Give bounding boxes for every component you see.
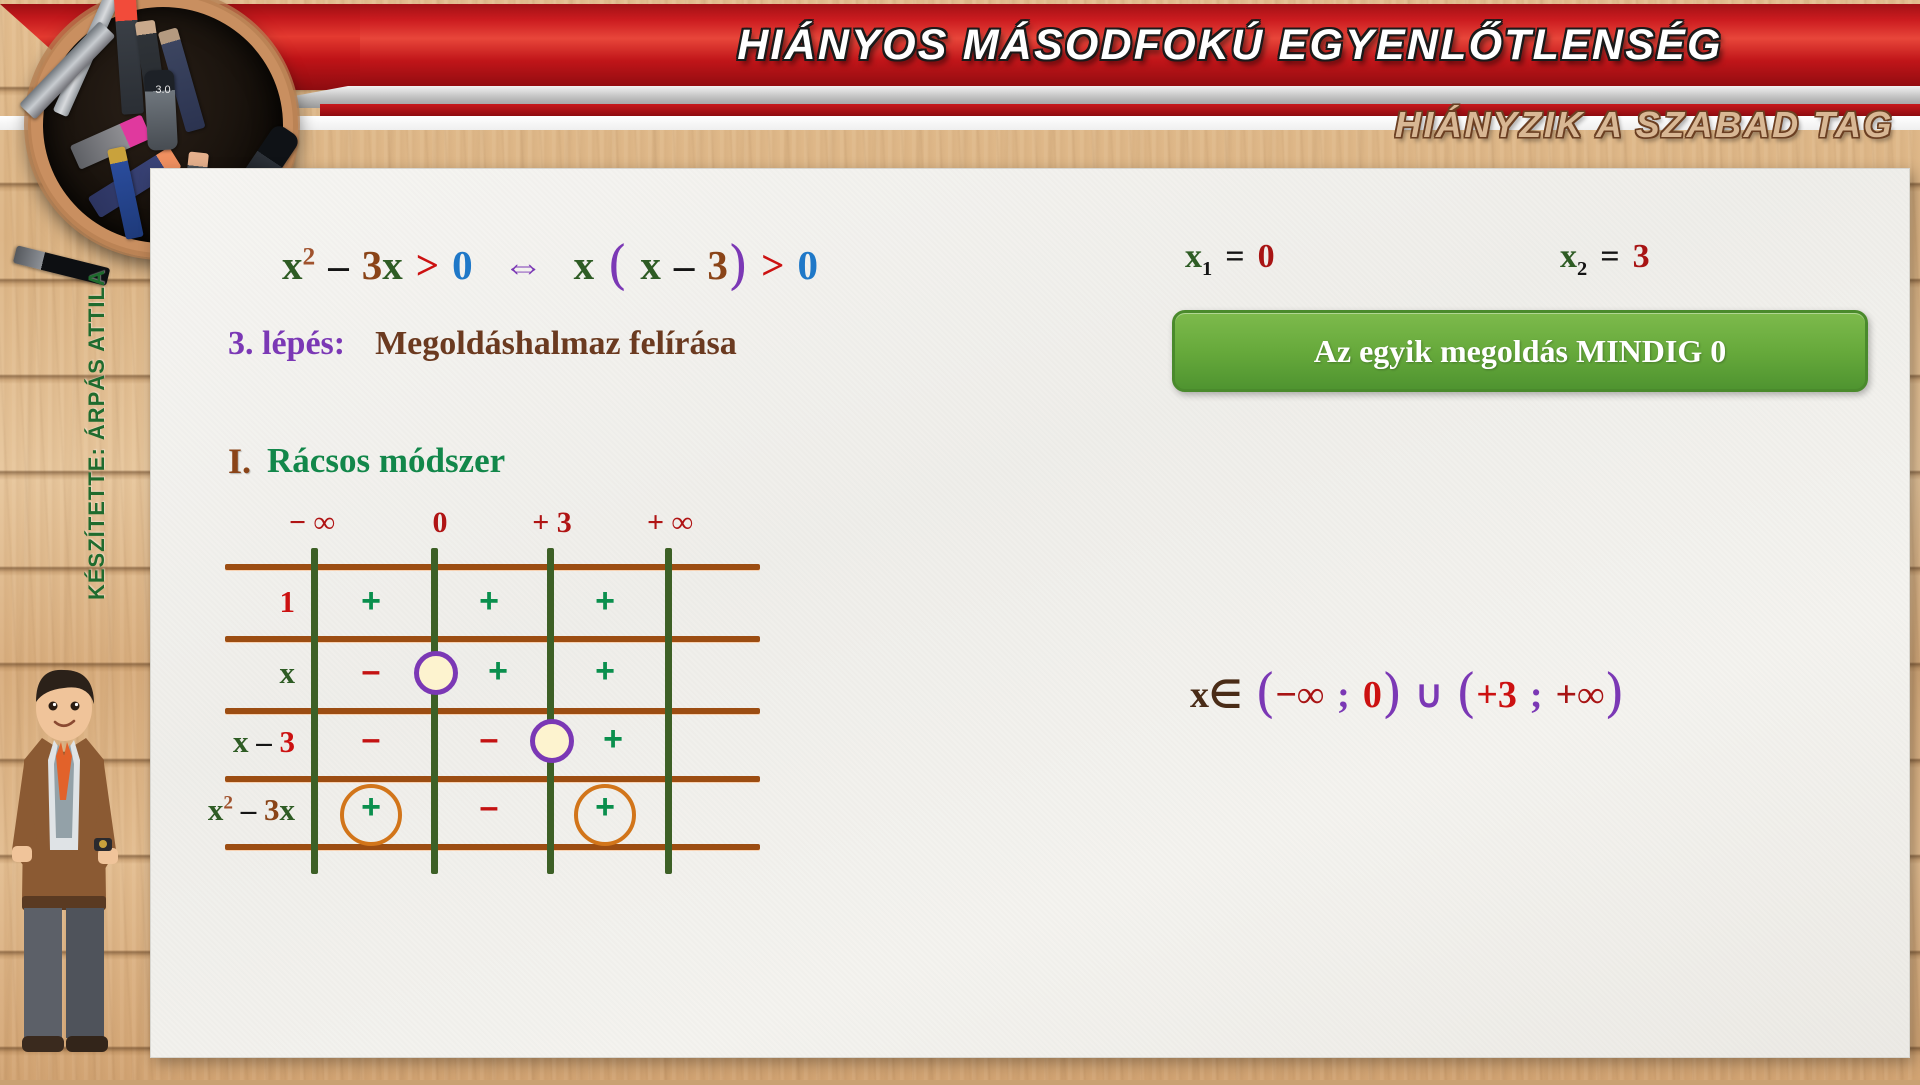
solution-set: x∈(−∞;0)∪(+3;+∞) bbox=[1190, 660, 1625, 720]
row-label-x-minus-3: x – 3 bbox=[161, 724, 295, 760]
solution-pos-infinity: +∞ bbox=[1556, 674, 1605, 716]
cartoon-teacher-illustration bbox=[6, 660, 128, 1080]
table-rule bbox=[225, 844, 760, 850]
sign-row1-interval2: + bbox=[459, 582, 519, 621]
callout-banner: Az egyik megoldás MINDIG 0 bbox=[1172, 310, 1868, 392]
solution-x-element-of: x∈ bbox=[1190, 674, 1242, 716]
sign-row2-interval1: – bbox=[341, 652, 401, 691]
sign-row2-interval2: + bbox=[468, 652, 528, 691]
equation-relation: > bbox=[416, 242, 439, 288]
zero-marker-at-3 bbox=[530, 719, 574, 763]
root-x1-symbol: x bbox=[1185, 238, 1202, 275]
table-rule bbox=[225, 636, 760, 642]
page-subtitle: HIÁNYZIK A SZABAD TAG bbox=[1395, 104, 1894, 146]
boundary-line-neg-infinity bbox=[311, 548, 318, 874]
sign-row3-interval1: – bbox=[341, 720, 401, 759]
solution-separator-2: ; bbox=[1530, 674, 1543, 716]
step-text: Megoldáshalmaz felírása bbox=[375, 325, 737, 362]
method-number: I. bbox=[228, 440, 251, 482]
sign-row4-interval3: + bbox=[575, 788, 635, 827]
column-header-neg-infinity: − ∞ bbox=[257, 506, 367, 540]
row3-three: 3 bbox=[280, 724, 296, 759]
method-heading: I. Rácsos módszer bbox=[228, 440, 505, 482]
solution-bracket-close-1: ) bbox=[1382, 664, 1402, 724]
solution-bracket-open-2: ( bbox=[1456, 664, 1476, 724]
row4-minus: – bbox=[233, 792, 264, 827]
step-label: 3. lépés: bbox=[228, 325, 345, 362]
pencil-grade-30-label: 3.0 bbox=[150, 84, 176, 104]
sign-row3-interval3: + bbox=[583, 720, 643, 759]
equation-zero: 0 bbox=[452, 242, 473, 288]
bracket-open: ( bbox=[607, 236, 627, 296]
sign-row2-interval3: + bbox=[575, 652, 635, 691]
equation-zero-2: 0 bbox=[798, 242, 819, 288]
row4-variable: x bbox=[280, 792, 296, 827]
factor-inner-x: x bbox=[640, 242, 661, 288]
row4-coefficient: 3 bbox=[264, 792, 280, 827]
solution-separator-1: ; bbox=[1337, 674, 1350, 716]
factor-inner-minus: – bbox=[674, 242, 695, 288]
solution-zero: 0 bbox=[1363, 674, 1382, 716]
column-header-pos-infinity: + ∞ bbox=[615, 506, 725, 540]
solution-neg-infinity: −∞ bbox=[1275, 674, 1324, 716]
boundary-line-pos-infinity bbox=[665, 548, 672, 874]
root-x1-equals: = bbox=[1225, 238, 1244, 275]
row3-minus: – bbox=[249, 724, 280, 759]
equation-coefficient: 3 bbox=[362, 242, 383, 288]
boundary-line-zero bbox=[431, 548, 438, 874]
boundary-line-plus-three bbox=[547, 548, 554, 874]
page-title: HIÁNYOS MÁSODFOKÚ EGYENLŐTLENSÉG bbox=[600, 14, 1860, 76]
author-credit: KÉSZÍTETTE: ÁRPÁS ATTILA bbox=[84, 260, 118, 600]
table-rule bbox=[225, 564, 760, 570]
union-icon: ∪ bbox=[1415, 674, 1443, 716]
row4-exponent: 2 bbox=[223, 793, 233, 814]
factor-inner-constant: 3 bbox=[707, 242, 728, 288]
root-x1: x1=0 bbox=[1185, 238, 1275, 276]
row-label-x: x bbox=[205, 655, 295, 691]
row-label-quadratic: x2 – 3x bbox=[143, 792, 295, 828]
solution-bracket-open-1: ( bbox=[1255, 664, 1275, 724]
root-x2-value: 3 bbox=[1633, 238, 1650, 275]
root-x2-equals: = bbox=[1600, 238, 1619, 275]
bracket-close: ) bbox=[728, 236, 748, 296]
mechanical-pencil-icon bbox=[144, 69, 178, 150]
equation-minus-sign: – bbox=[328, 242, 349, 288]
column-header-zero: 0 bbox=[385, 506, 495, 540]
sign-row4-interval1: + bbox=[341, 788, 401, 827]
step-heading: 3. lépés:Megoldáshalmaz felírása bbox=[228, 325, 737, 363]
row-label-1: 1 bbox=[205, 584, 295, 620]
root-x2: x2=3 bbox=[1560, 238, 1650, 276]
table-rule bbox=[225, 708, 760, 714]
solution-plus-three: +3 bbox=[1476, 674, 1517, 716]
method-name: Rácsos módszer bbox=[267, 441, 505, 481]
table-rule bbox=[225, 776, 760, 782]
sign-row3-interval2: – bbox=[459, 720, 519, 759]
equation-relation-2: > bbox=[761, 242, 784, 288]
equation-variable: x bbox=[382, 242, 403, 288]
sign-row1-interval3: + bbox=[575, 582, 635, 621]
root-x1-value: 0 bbox=[1258, 238, 1275, 275]
equation-exponent: 2 bbox=[303, 242, 316, 270]
solution-bracket-close-2: ) bbox=[1604, 664, 1624, 724]
sign-row4-interval2: – bbox=[459, 788, 519, 827]
equation-lhs-variable: x bbox=[282, 242, 303, 288]
teacher-svg bbox=[6, 660, 128, 1080]
root-x1-subscript: 1 bbox=[1202, 258, 1212, 280]
zero-marker-at-0 bbox=[414, 651, 458, 695]
sign-table: − ∞ 0 + 3 + ∞ 1 + + + x – + + x – 3 – – … bbox=[225, 512, 885, 902]
row4-x: x bbox=[208, 792, 224, 827]
root-x2-subscript: 2 bbox=[1577, 258, 1587, 280]
sign-row1-interval1: + bbox=[341, 582, 401, 621]
row3-x: x bbox=[233, 724, 249, 759]
main-equation: x2–3x>0⇔x(x–3)>0 bbox=[282, 232, 818, 292]
factor-outer-x: x bbox=[574, 242, 595, 288]
column-header-plus-three: + 3 bbox=[497, 506, 607, 540]
equivalence-icon: ⇔ bbox=[503, 242, 544, 288]
root-x2-symbol: x bbox=[1560, 238, 1577, 275]
